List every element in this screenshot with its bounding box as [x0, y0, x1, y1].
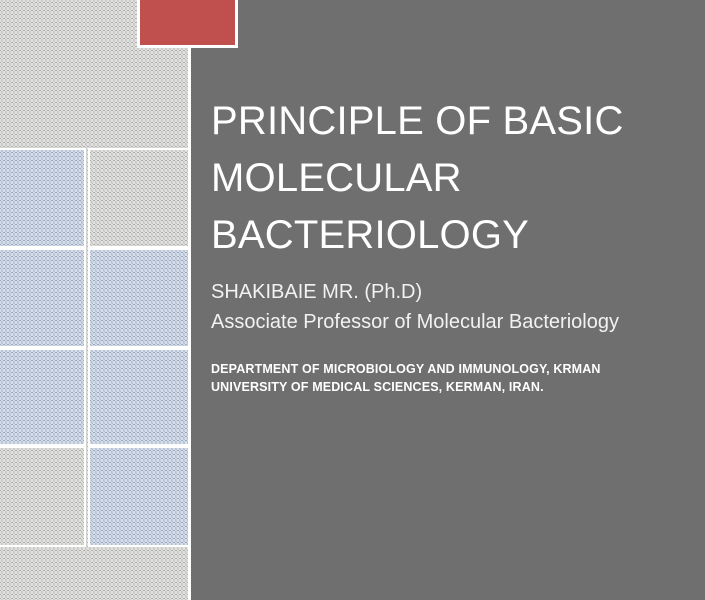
chevron-weave-texture: [90, 150, 188, 246]
chevron-weave-texture: [0, 448, 84, 545]
slide-content-column: PRINCIPLE OF BASIC MOLECULAR BACTERIOLOG…: [211, 0, 705, 600]
presenter-block: SHAKIBAIE MR. (Ph.D) Associate Professor…: [211, 277, 701, 337]
chevron-weave-texture: [0, 350, 84, 444]
affiliation-block: DEPARTMENT OF MICROBIOLOGY AND IMMUNOLOG…: [211, 360, 681, 396]
presentation-slide: PRINCIPLE OF BASIC MOLECULAR BACTERIOLOG…: [0, 0, 705, 600]
tile-col-b-row-1: [88, 148, 188, 248]
tile-col-a-row-3: [0, 348, 86, 446]
slide-title: PRINCIPLE OF BASIC MOLECULAR BACTERIOLOG…: [211, 93, 691, 264]
chevron-weave-texture: [0, 250, 84, 346]
tile-col-b-row-4: [88, 446, 188, 547]
chevron-weave-texture: [0, 150, 84, 246]
chevron-weave-texture: [90, 448, 188, 545]
left-texture-panel: [0, 0, 188, 600]
tile-col-a-row-2: [0, 248, 86, 348]
presenter-name: SHAKIBAIE MR. (Ph.D): [211, 277, 701, 307]
chevron-weave-texture: [90, 250, 188, 346]
chevron-weave-texture: [90, 350, 188, 444]
tile-col-a-row-4: [0, 446, 86, 547]
affiliation-line-2: UNIVERSITY OF MEDICAL SCIENCES, KERMAN, …: [211, 378, 681, 396]
panel-divider: [188, 0, 191, 600]
tile-col-a-row-1: [0, 148, 86, 248]
tile-col-b-row-2: [88, 248, 188, 348]
affiliation-line-1: DEPARTMENT OF MICROBIOLOGY AND IMMUNOLOG…: [211, 360, 681, 378]
presenter-role: Associate Professor of Molecular Bacteri…: [211, 307, 701, 337]
tile-col-b-row-3: [88, 348, 188, 446]
